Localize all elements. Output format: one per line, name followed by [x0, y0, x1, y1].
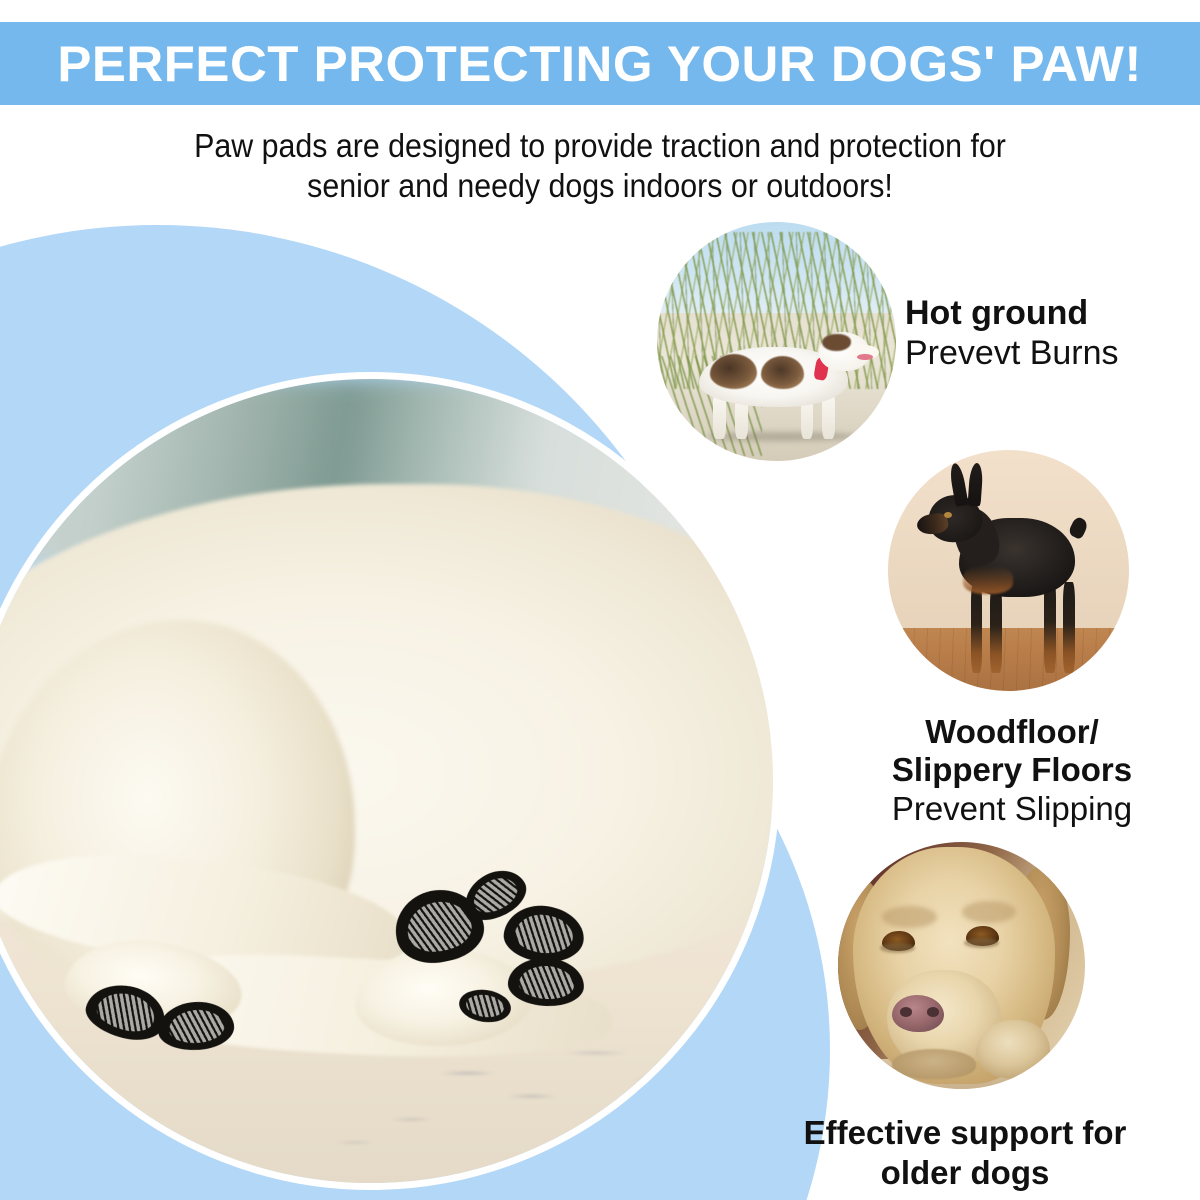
feature-image-older-dogs [838, 842, 1085, 1089]
feature-caption-wood-floor: Woodfloor/ Slippery Floors Prevent Slipp… [862, 713, 1162, 829]
main-photo-scene [0, 379, 773, 1183]
feature-title-hot-ground: Hot ground [905, 293, 1185, 333]
subtitle-line-2: senior and needy dogs indoors or outdoor… [48, 166, 1152, 206]
infographic-page: PERFECT PROTECTING YOUR DOGS' PAW! Paw p… [0, 0, 1200, 1200]
beach-dog-patch-1 [710, 354, 757, 389]
header-banner: PERFECT PROTECTING YOUR DOGS' PAW! [0, 22, 1200, 105]
page-title: PERFECT PROTECTING YOUR DOGS' PAW! [58, 39, 1142, 89]
pinscher-leg-1 [971, 582, 983, 673]
labrador-paw [976, 1020, 1050, 1079]
pinscher-tan-marking [963, 566, 1013, 594]
labrador-eyelid-left [880, 943, 915, 953]
main-product-photo [0, 372, 780, 1190]
feature-image-hot-ground [657, 222, 896, 461]
subtitle-text: Paw pads are designed to provide tractio… [48, 126, 1152, 206]
beach-dog-patch-2 [761, 356, 805, 389]
feature-title-wood-floor-line2: Slippery Floors [862, 751, 1162, 789]
pinscher-leg-2 [990, 586, 1002, 673]
feature-title-wood-floor-line1: Woodfloor/ [862, 713, 1162, 751]
feature-subtitle-wood-floor: Prevent Slipping [862, 789, 1162, 829]
pinscher-tail [1068, 516, 1091, 541]
labrador-chin [892, 1049, 976, 1079]
feature-title-older-dogs-line1: Effective support for [755, 1113, 1175, 1153]
feature-caption-older-dogs: Effective support for older dogs [755, 1113, 1175, 1193]
beach-dog-tongue [857, 354, 873, 361]
feature-image-wood-floor [888, 450, 1129, 691]
pinscher-leg-4 [1063, 582, 1075, 673]
subtitle-line-1: Paw pads are designed to provide tractio… [48, 126, 1152, 166]
feature-subtitle-hot-ground: Prevevt Burns [905, 333, 1185, 373]
feature-caption-hot-ground: Hot ground Prevevt Burns [905, 293, 1185, 373]
pinscher-dog [917, 479, 1110, 677]
feature-title-older-dogs-line2: older dogs [755, 1153, 1175, 1193]
beach-dog [695, 327, 877, 437]
